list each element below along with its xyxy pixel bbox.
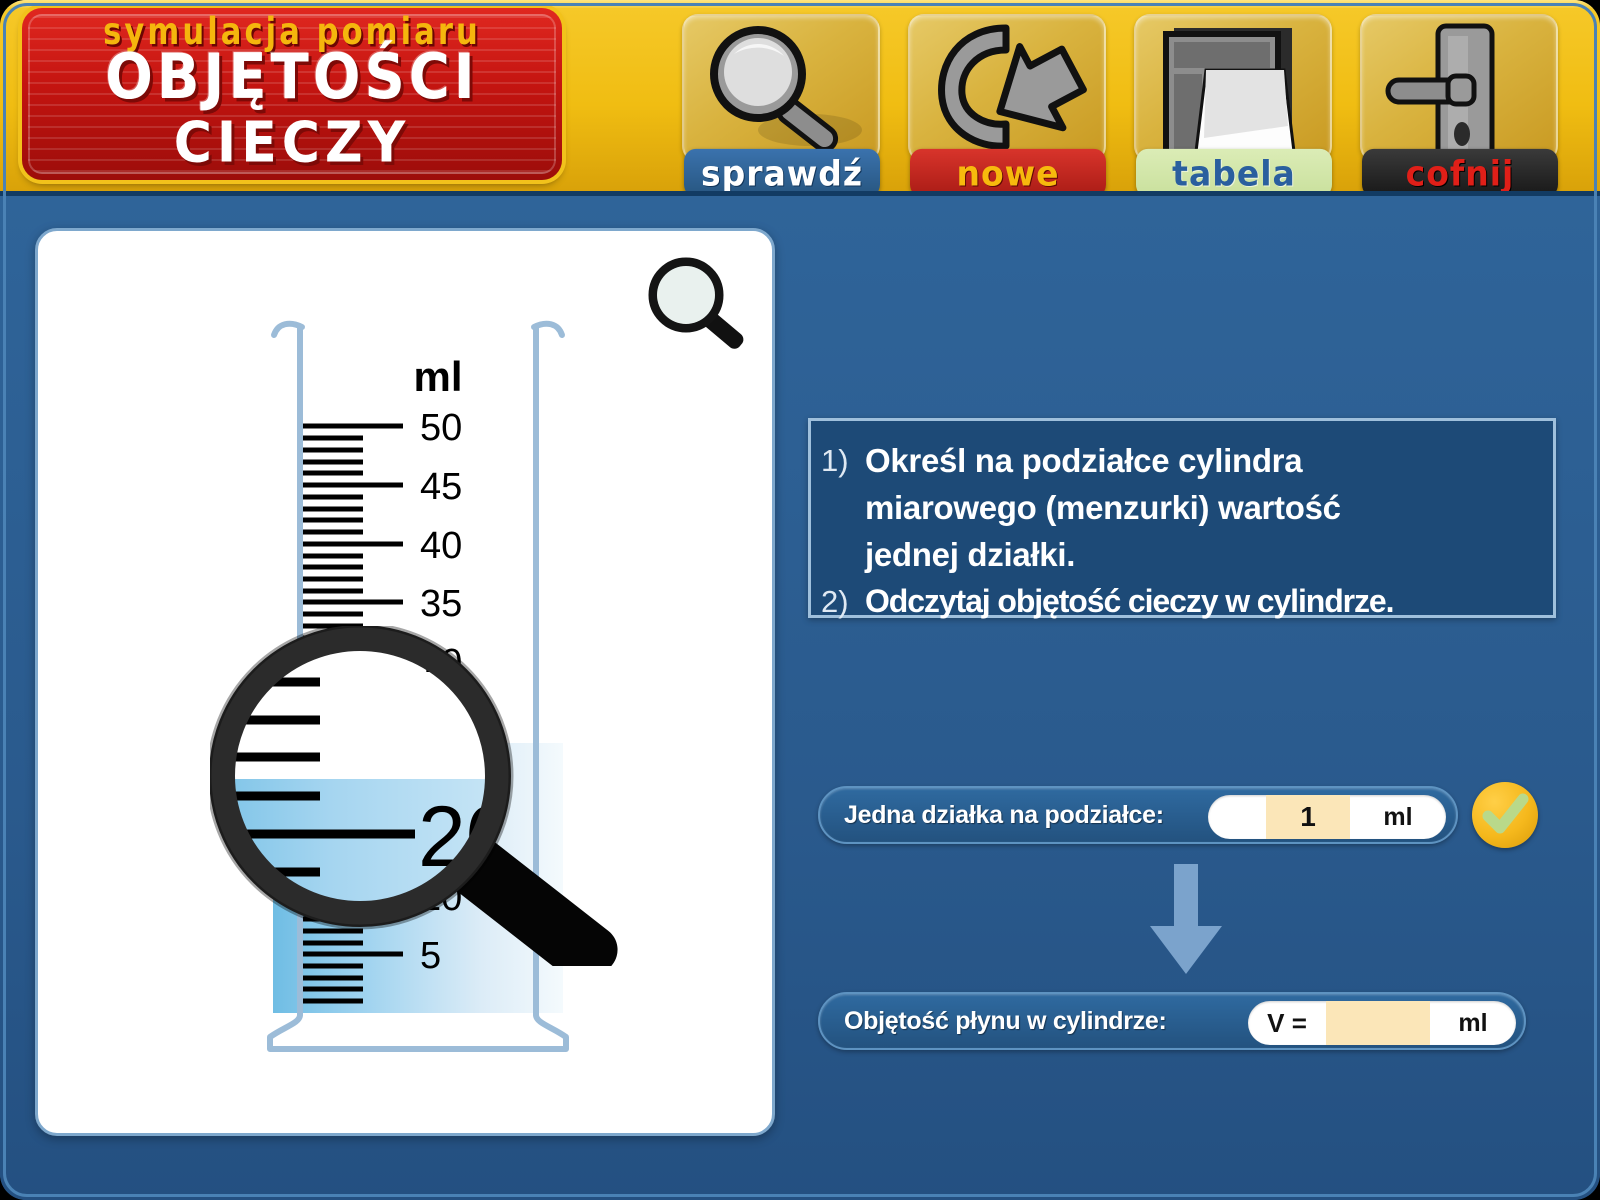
instruction-line: miarowego (menzurki) wartość	[865, 489, 1341, 526]
application-window: symulacja pomiaru OBJĘTOŚCI CIECZY	[0, 0, 1600, 1200]
svg-text:50: 50	[420, 407, 462, 449]
instruction-item-1: 1) Określ na podziałce cylindra miaroweg…	[821, 437, 1539, 578]
toolbar: sprawdź nowe	[676, 10, 1588, 196]
title-main: OBJĘTOŚCI	[22, 42, 562, 114]
refresh-arrow-icon	[908, 14, 1106, 162]
instruction-number: 2)	[821, 578, 865, 625]
svg-text:ml: ml	[413, 353, 462, 400]
svg-text:45: 45	[420, 466, 462, 508]
toolbar-button-sprawdz[interactable]: sprawdź	[676, 10, 888, 196]
division-field-pill[interactable]: 1 ml	[1208, 795, 1446, 839]
app-header: symulacja pomiaru OBJĘTOŚCI CIECZY	[0, 0, 1600, 196]
main-stage: ml	[0, 196, 1600, 1200]
volume-field-pill[interactable]: V = ml	[1248, 1001, 1516, 1045]
toolbar-button-cofnij[interactable]: cofnij	[1354, 10, 1566, 196]
volume-input[interactable]	[1326, 1001, 1430, 1045]
toolbar-label-tabela[interactable]: tabela	[1136, 149, 1332, 196]
magnifier-icon	[682, 14, 880, 162]
instruction-line: jednej działki.	[865, 536, 1075, 573]
division-unit: ml	[1350, 803, 1446, 832]
answer-row-volume: Objętość płynu w cylindrze: V = ml	[818, 992, 1526, 1050]
toolbar-label-sprawdz[interactable]: sprawdź	[684, 149, 880, 196]
toolbar-button-tabela[interactable]: tabela	[1128, 10, 1340, 196]
toolbar-label-nowe[interactable]: nowe	[910, 149, 1106, 196]
instruction-text: Odczytaj objętość cieczy w cylindrze.	[865, 578, 1393, 625]
header-highlight	[0, 0, 1600, 8]
arrow-down-icon	[1148, 864, 1224, 976]
instruction-item-2: 2) Odczytaj objętość cieczy w cylindrze.	[821, 578, 1539, 625]
volume-unit: ml	[1430, 1009, 1516, 1038]
instruction-line: Określ na podziałce cylindra	[865, 442, 1302, 479]
volume-prefix: V =	[1248, 1008, 1326, 1039]
division-label: Jedna działka na podziałce:	[820, 801, 1164, 830]
svg-text:35: 35	[420, 583, 462, 625]
toolbar-button-nowe[interactable]: nowe	[902, 10, 1114, 196]
toolbar-label-cofnij[interactable]: cofnij	[1362, 149, 1558, 196]
cylinder-canvas[interactable]: ml	[35, 228, 775, 1136]
answer-row-division: Jedna działka na podziałce: 1 ml	[818, 786, 1458, 844]
instruction-number: 1)	[821, 437, 865, 484]
cylinder-graphic: ml	[38, 231, 775, 1136]
instructions-panel: 1) Określ na podziałce cylindra miaroweg…	[808, 418, 1556, 618]
magnifying-glass-overlay[interactable]: 25 20	[210, 626, 700, 966]
svg-text:40: 40	[420, 525, 462, 567]
checkmark-badge	[1472, 782, 1538, 848]
magnifier-icon[interactable]	[633, 251, 773, 361]
door-handle-icon	[1360, 14, 1558, 162]
volume-label: Objętość płynu w cylindrze:	[820, 1007, 1167, 1036]
instruction-text: Określ na podziałce cylindra miarowego (…	[865, 437, 1341, 578]
title-plate: symulacja pomiaru OBJĘTOŚCI CIECZY	[22, 8, 562, 180]
title-subtitle: CIECZY	[22, 112, 562, 175]
division-input[interactable]: 1	[1266, 795, 1350, 839]
window-table-icon	[1134, 14, 1332, 162]
